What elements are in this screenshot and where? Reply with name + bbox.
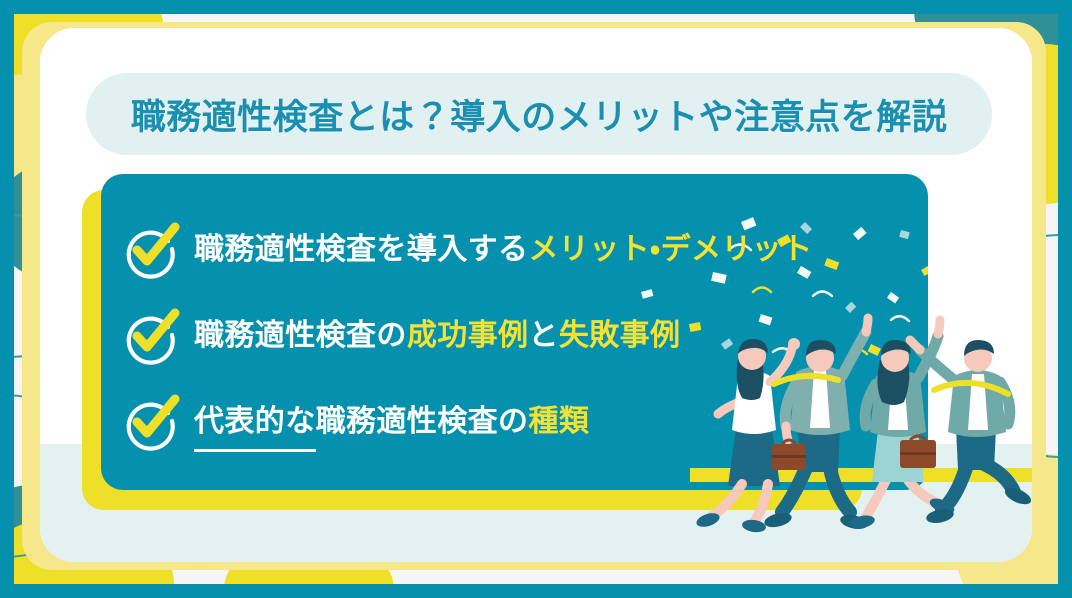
checklist: 職務適性検査を導入するメリット・デメリット 職務適性検査の成功事例と失敗事例 [122,206,932,464]
list-item-segment: 職務適性検査を導入する [194,232,528,267]
check-circle-icon [122,307,178,363]
list-item-segment: 職務適性検査の [194,318,407,353]
list-item-segment-underlined: 代表的な [194,404,316,439]
check-circle-icon [122,393,178,449]
title-pill: 職務適性検査とは？導入のメリットや注意点を解説 [86,73,992,155]
list-item-segment-highlight: 失敗事例 [559,318,681,353]
list-item-segment: 職務適性検査の [316,404,529,439]
list-item-segment-highlight: 成功事例 [407,318,529,353]
list-item-segment: と [528,318,558,353]
page-title: 職務適性検査とは？導入のメリットや注意点を解説 [131,89,948,140]
list-item: 職務適性検査の成功事例と失敗事例 [122,292,932,378]
list-item-segment-highlight: メリット・デメリット [528,232,812,267]
list-item-segment-highlight: 種類 [528,404,589,439]
list-item-label: 職務適性検査を導入するメリット・デメリット [194,233,813,266]
list-item: 職務適性検査を導入するメリット・デメリット [122,206,932,292]
banner-image: 職務適性検査とは？導入のメリットや注意点を解説 [0,0,1072,598]
check-circle-icon [122,221,178,277]
list-item: 代表的な職務適性検査の種類 [122,378,932,464]
list-item-label: 職務適性検査の成功事例と失敗事例 [194,319,680,352]
list-item-label: 代表的な職務適性検査の種類 [194,405,589,438]
